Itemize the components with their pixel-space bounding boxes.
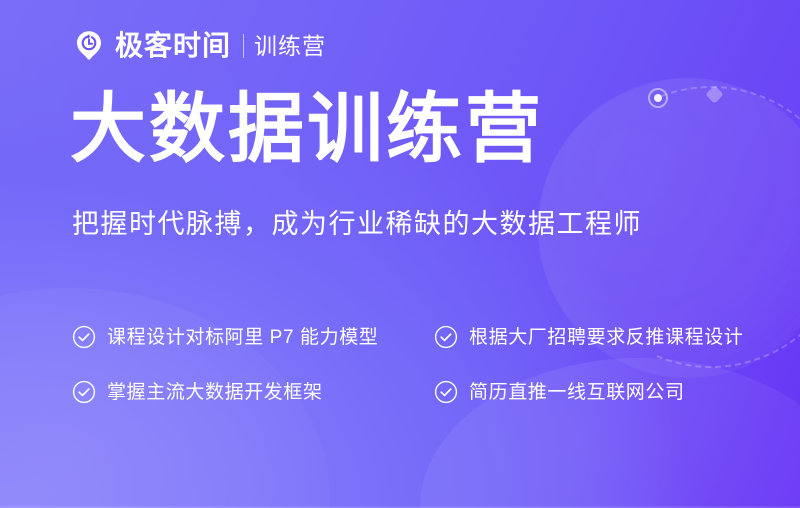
- check-circle-icon: [72, 380, 96, 404]
- feature-label: 根据大厂招聘要求反推课程设计: [469, 328, 743, 347]
- geekbang-clock-logo-icon: [72, 29, 106, 63]
- brand-lockup: 极客时间 训练营: [72, 26, 326, 66]
- feature-item: 课程设计对标阿里 P7 能力模型: [72, 324, 434, 350]
- page-subtitle: 把握时代脉搏，成为行业稀缺的大数据工程师: [72, 208, 642, 240]
- feature-label: 掌握主流大数据开发框架: [107, 383, 323, 402]
- check-circle-icon: [434, 380, 458, 404]
- check-circle-icon: [72, 325, 96, 349]
- small-ring-dot-decoration: [648, 88, 668, 108]
- feature-list: 课程设计对标阿里 P7 能力模型 根据大厂招聘要求反推课程设计 掌握主流大数据开…: [72, 324, 762, 405]
- check-circle-icon: [434, 325, 458, 349]
- feature-item: 简历直推一线互联网公司: [434, 379, 762, 405]
- feature-label: 简历直推一线互联网公司: [469, 383, 685, 402]
- course-promo-banner: 极客时间 训练营 大数据训练营 把握时代脉搏，成为行业稀缺的大数据工程师 课程设…: [0, 0, 800, 508]
- feature-label: 课程设计对标阿里 P7 能力模型: [107, 328, 378, 347]
- brand-divider: [243, 34, 244, 58]
- feature-item: 根据大厂招聘要求反推课程设计: [434, 324, 762, 350]
- brand-name: 极客时间: [115, 32, 231, 60]
- brand-sub-name: 训练营: [254, 35, 326, 58]
- small-diamond-dot-decoration: [705, 85, 723, 103]
- feature-item: 掌握主流大数据开发框架: [72, 379, 434, 405]
- page-title: 大数据训练营: [70, 90, 544, 170]
